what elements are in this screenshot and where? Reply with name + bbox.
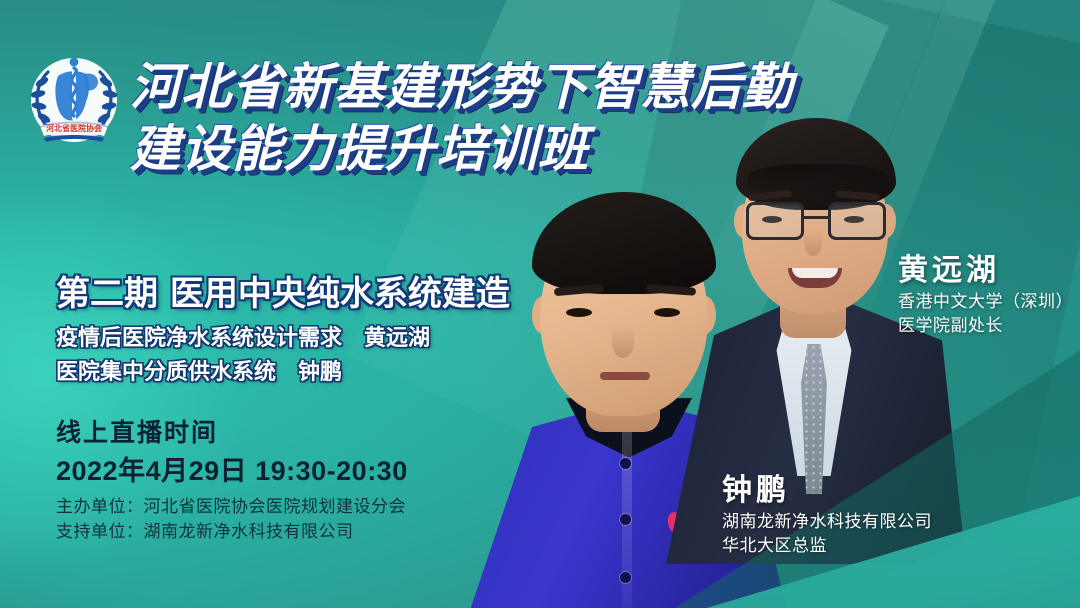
logo-chinese-text: 河北省医院协会 [46, 123, 102, 133]
webinar-poster: 河北省医院协会 HEBEI HOSPITAL ASSOCIATION 河北省新基… [0, 0, 1080, 608]
session-title: 第二期 医用中央纯水系统建造 [56, 272, 576, 316]
headline-line-1: 河北省新基建形势下智慧后勤 [130, 56, 750, 118]
speaker-name: 钟鹏 [722, 472, 972, 510]
huang-teeth [792, 268, 838, 278]
zhong-button [620, 458, 631, 469]
huang-lens-left [746, 202, 804, 240]
huang-nose [804, 230, 822, 256]
speaker-org: 湖南龙新净水科技有限公司 [722, 510, 972, 534]
speaker-title: 医学院副处长 [898, 314, 1080, 338]
live-label: 线上直播时间 [56, 416, 576, 450]
speaker-label-zhong-peng: 钟鹏 湖南龙新净水科技有限公司 华北大区总监 [722, 472, 972, 558]
headline-line-2: 建设能力提升培训班 [130, 118, 750, 180]
organizer-line: 主办单位：河北省医院协会医院规划建设分会 [56, 494, 616, 519]
speaker-name: 黄远湖 [898, 252, 1080, 290]
speaker-org: 香港中文大学（深圳） [898, 290, 1080, 314]
huang-lens-right [828, 202, 886, 240]
session-block: 第二期 医用中央纯水系统建造 疫情后医院净水系统设计需求 黄远湖 医院集中分质供… [56, 272, 576, 388]
session-topic: 疫情后医院净水系统设计需求 黄远湖 [56, 322, 576, 354]
organizers-block: 主办单位：河北省医院协会医院规划建设分会 支持单位：湖南龙新净水科技有限公司 [56, 494, 616, 544]
organizer-line: 支持单位：湖南龙新净水科技有限公司 [56, 519, 616, 544]
speaker-title: 华北大区总监 [722, 534, 972, 558]
speaker-label-huang-yuanhu: 黄远湖 香港中文大学（深圳） 医学院副处长 [898, 252, 1080, 338]
huang-glasses-bridge [804, 216, 828, 219]
zhong-mouth [600, 372, 650, 380]
session-topic: 医院集中分质供水系统 钟鹏 [56, 356, 576, 388]
hebei-hospital-association-logo: 河北省医院协会 HEBEI HOSPITAL ASSOCIATION [24, 48, 124, 148]
zhong-button [620, 572, 631, 583]
zhong-button [620, 514, 631, 525]
live-datetime: 2022年4月29日 19:30-20:30 [56, 452, 576, 490]
live-info-block: 线上直播时间 2022年4月29日 19:30-20:30 [56, 416, 576, 490]
poster-headline: 河北省新基建形势下智慧后勤 建设能力提升培训班 [130, 56, 750, 180]
zhong-nose [612, 326, 634, 358]
